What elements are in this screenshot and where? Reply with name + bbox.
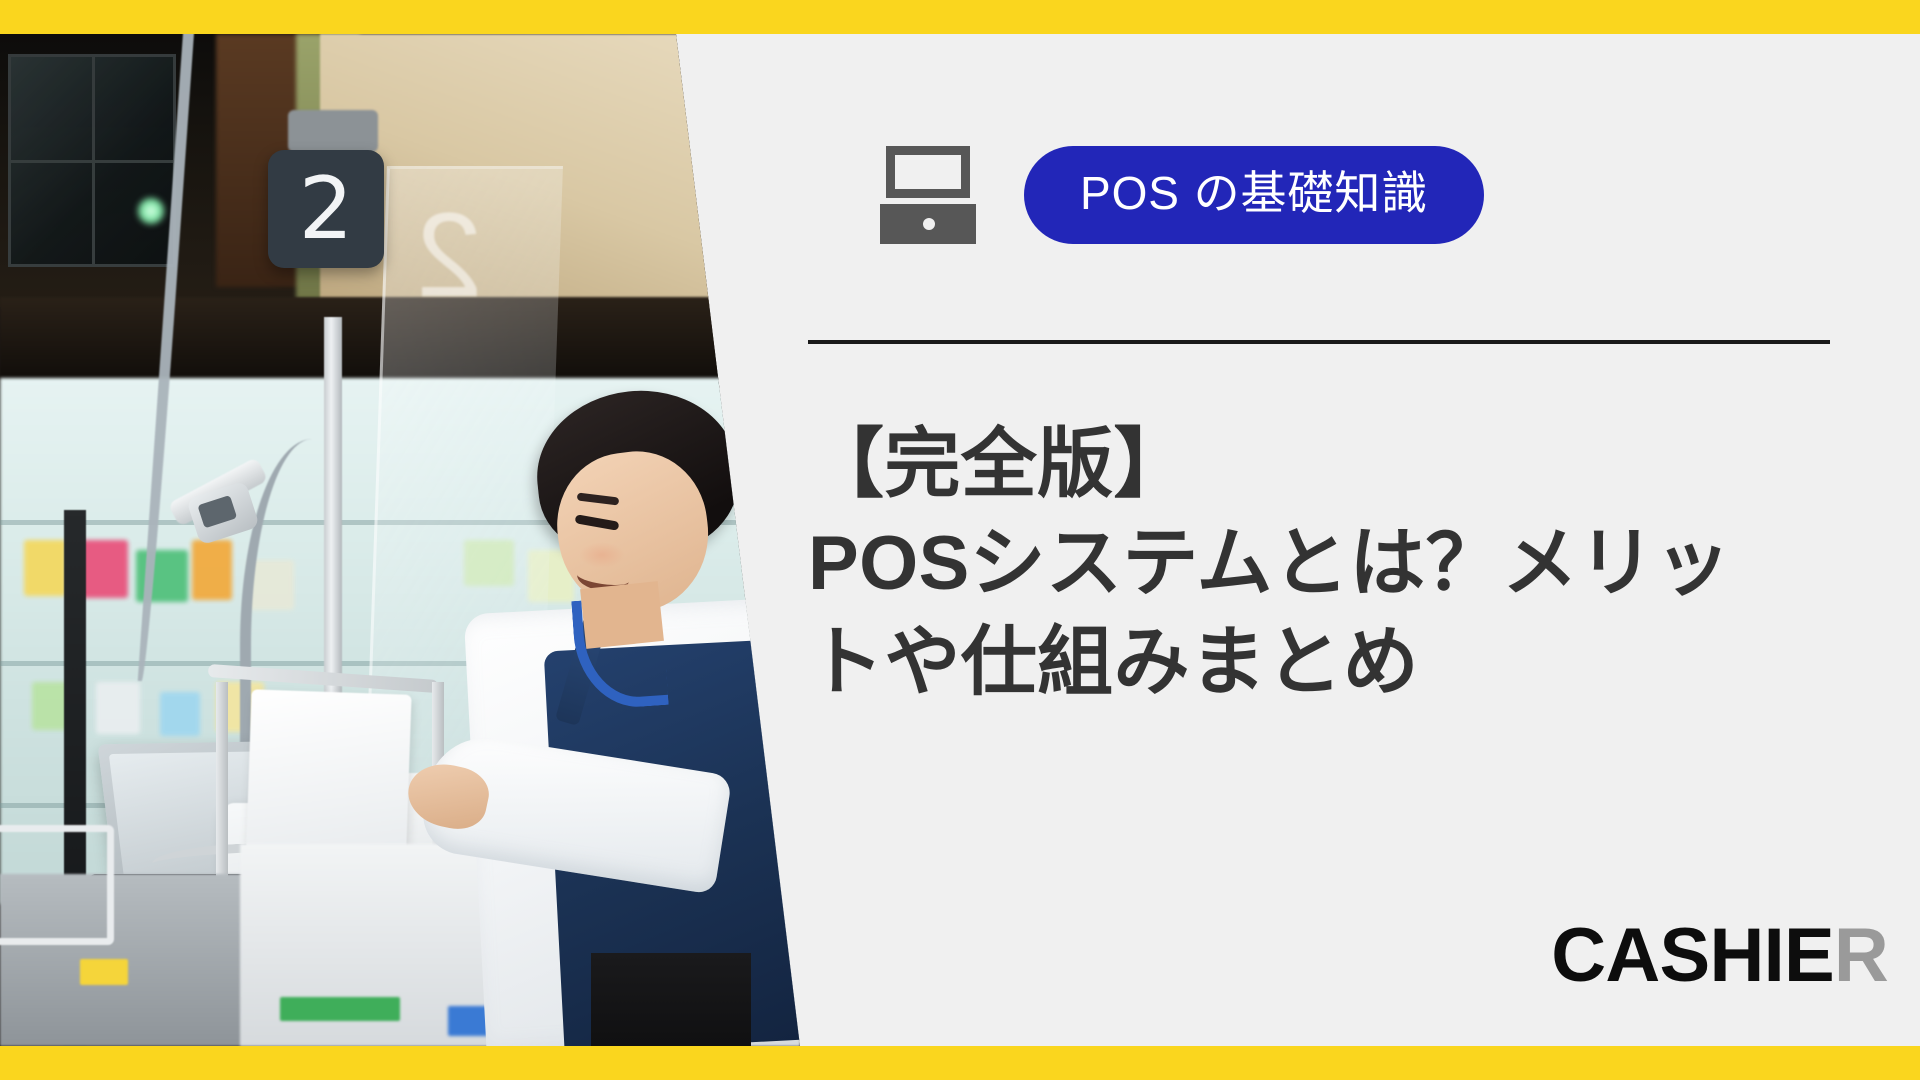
divider [808,340,1830,344]
badge-row: POS の基礎知識 [880,146,1484,244]
photo-label [280,997,400,1021]
top-accent-bar [0,0,1920,34]
photo-lane-number: 2 [299,166,354,252]
photo-label [80,959,128,985]
photo-product [24,540,66,596]
bottom-accent-bar [0,1046,1920,1080]
photo-clerk-pants [591,953,751,1046]
page-title-line-2: POSシステムとは？メリッ [808,515,1843,614]
photo-product [192,540,232,600]
photo-indicator-light [136,196,166,226]
page-title: 【完全版】 POSシステムとは？メリッ トや仕組みまとめ [808,416,1843,712]
photo-product [96,682,140,734]
photo-lane-number-sign: 2 [268,150,384,268]
content-panel: POS の基礎知識 【完全版】 POSシステムとは？メリッ トや仕組みまとめ C… [800,34,1920,1046]
photo-sign-top [288,110,378,152]
photo-cart [0,825,114,945]
hero-photo: 2 2 [0,34,800,1046]
category-badge[interactable]: POS の基礎知識 [1024,146,1484,244]
photo-clerk [400,378,800,1046]
pos-terminal-icon [880,146,976,244]
cashier-logo-gray: R [1834,913,1888,998]
pos-icon-dot [923,218,935,230]
photo-lane-number-reflection: 2 [416,186,483,324]
hero-stage: 2 2 [0,34,1920,1046]
pos-icon-screen [886,146,970,198]
page-title-line-1: 【完全版】 [808,416,1843,515]
cashier-logo: CASHIER [1551,918,1888,994]
page-title-line-3: トや仕組みまとめ [808,614,1843,713]
photo-window [8,54,176,267]
photo-clerk-neck [580,581,664,649]
photo-product [160,692,200,736]
cashier-logo-dark: CASHIE [1551,913,1834,998]
photo-product [80,540,128,598]
